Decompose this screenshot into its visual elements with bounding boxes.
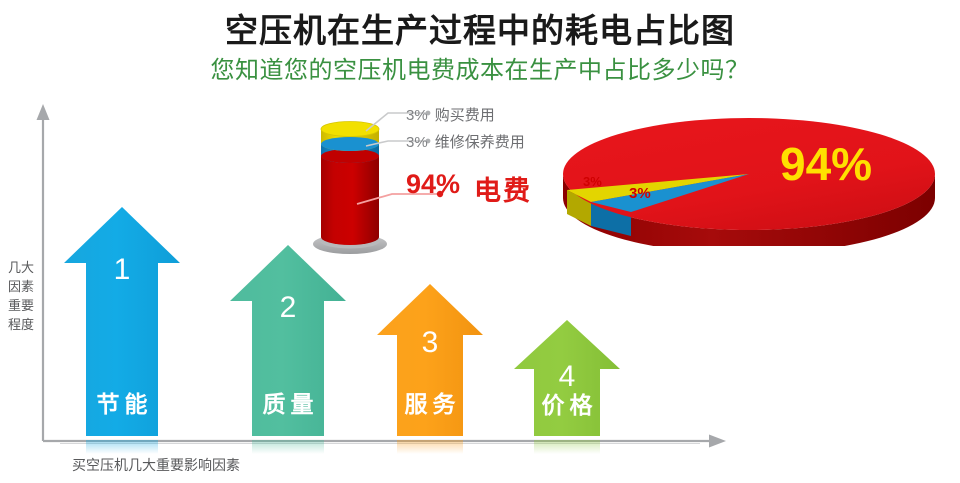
factor-arrow-4[interactable]: 4 价格 xyxy=(512,318,622,438)
factor-arrow-1-reflection xyxy=(86,440,158,454)
pie-main-label: 94% xyxy=(780,137,872,191)
arrow-label-2: 质量 xyxy=(228,385,348,419)
arrow-rank-2: 2 xyxy=(228,291,348,325)
pie-blue-slice-label: 3% xyxy=(629,185,651,202)
page-subtitle: 您知道您的空压机电费成本在生产中占比多少吗？ xyxy=(0,50,960,85)
pie-shape-icon xyxy=(545,112,953,246)
x-axis-label: 买空压机几大重要影响因素 xyxy=(72,455,240,475)
factor-arrow-2[interactable]: 2 质量 xyxy=(228,243,348,438)
factor-arrow-2-reflection xyxy=(252,440,324,454)
factor-arrow-3[interactable]: 3 服务 xyxy=(375,282,485,438)
y-axis-label: 几大因素重要程度 xyxy=(8,258,34,334)
arrow-label-4: 价格 xyxy=(512,386,622,420)
cost-cylinder-chart[interactable] xyxy=(300,112,400,257)
arrow-rank-1: 1 xyxy=(62,253,182,287)
main-callout-percent: 94% xyxy=(406,169,460,200)
callout-2: 3%维修保养费用 xyxy=(406,131,525,152)
page-title: 空压机在生产过程中的耗电占比图 xyxy=(0,4,960,52)
factor-arrow-3-reflection xyxy=(397,440,463,454)
factor-arrow-4-reflection xyxy=(534,440,600,454)
callout-2-text: 维修保养费用 xyxy=(435,134,525,151)
arrow-label-3: 服务 xyxy=(375,385,485,419)
callout-1: 3%购买费用 xyxy=(406,104,495,125)
pie-yellow-slice-label: 3% xyxy=(583,174,602,189)
arrow-rank-3: 3 xyxy=(375,326,485,360)
cost-pie-chart[interactable]: 94% 3% 3% xyxy=(545,112,953,246)
callout-1-text: 购买费用 xyxy=(435,107,495,124)
main-callout-text: 电费 xyxy=(474,169,532,208)
factor-arrow-1[interactable]: 1 节能 xyxy=(62,205,182,438)
callout-1-percent: 3% xyxy=(406,107,428,124)
arrow-label-1: 节能 xyxy=(62,385,182,419)
callout-2-percent: 3% xyxy=(406,134,428,151)
cylinder-shape-icon xyxy=(300,112,400,257)
infographic-canvas: 空压机在生产过程中的耗电占比图 您知道您的空压机电费成本在生产中占比多少吗？ 几… xyxy=(0,0,960,483)
